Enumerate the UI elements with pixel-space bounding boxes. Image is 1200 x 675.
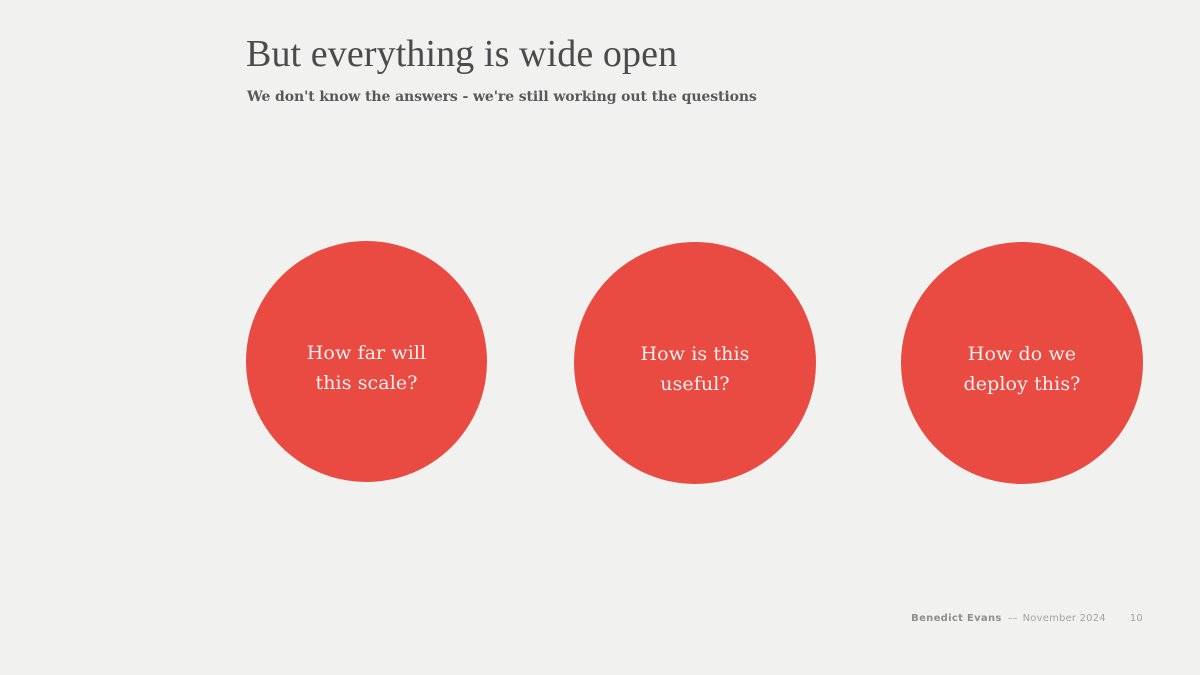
footer-author: Benedict Evans xyxy=(911,612,1001,626)
footer-date: November 2024 xyxy=(1023,612,1106,626)
slide-footer: Benedict Evans –– November 2024 10 xyxy=(911,612,1143,626)
footer-page-number: 10 xyxy=(1130,612,1143,626)
question-circle-3-label: How do we deploy this? xyxy=(916,339,1129,399)
question-circle-1[interactable]: How far will this scale? xyxy=(246,241,487,482)
circle-group: How far will this scale? How is this use… xyxy=(0,0,1200,675)
question-circle-1-label: How far will this scale? xyxy=(260,338,472,398)
question-circle-2-label: How is this useful? xyxy=(589,339,802,399)
question-circle-3[interactable]: How do we deploy this? xyxy=(901,242,1143,484)
footer-separator: –– xyxy=(1008,612,1018,626)
question-circle-2[interactable]: How is this useful? xyxy=(574,242,816,484)
slide: But everything is wide open We don't kno… xyxy=(0,0,1200,675)
